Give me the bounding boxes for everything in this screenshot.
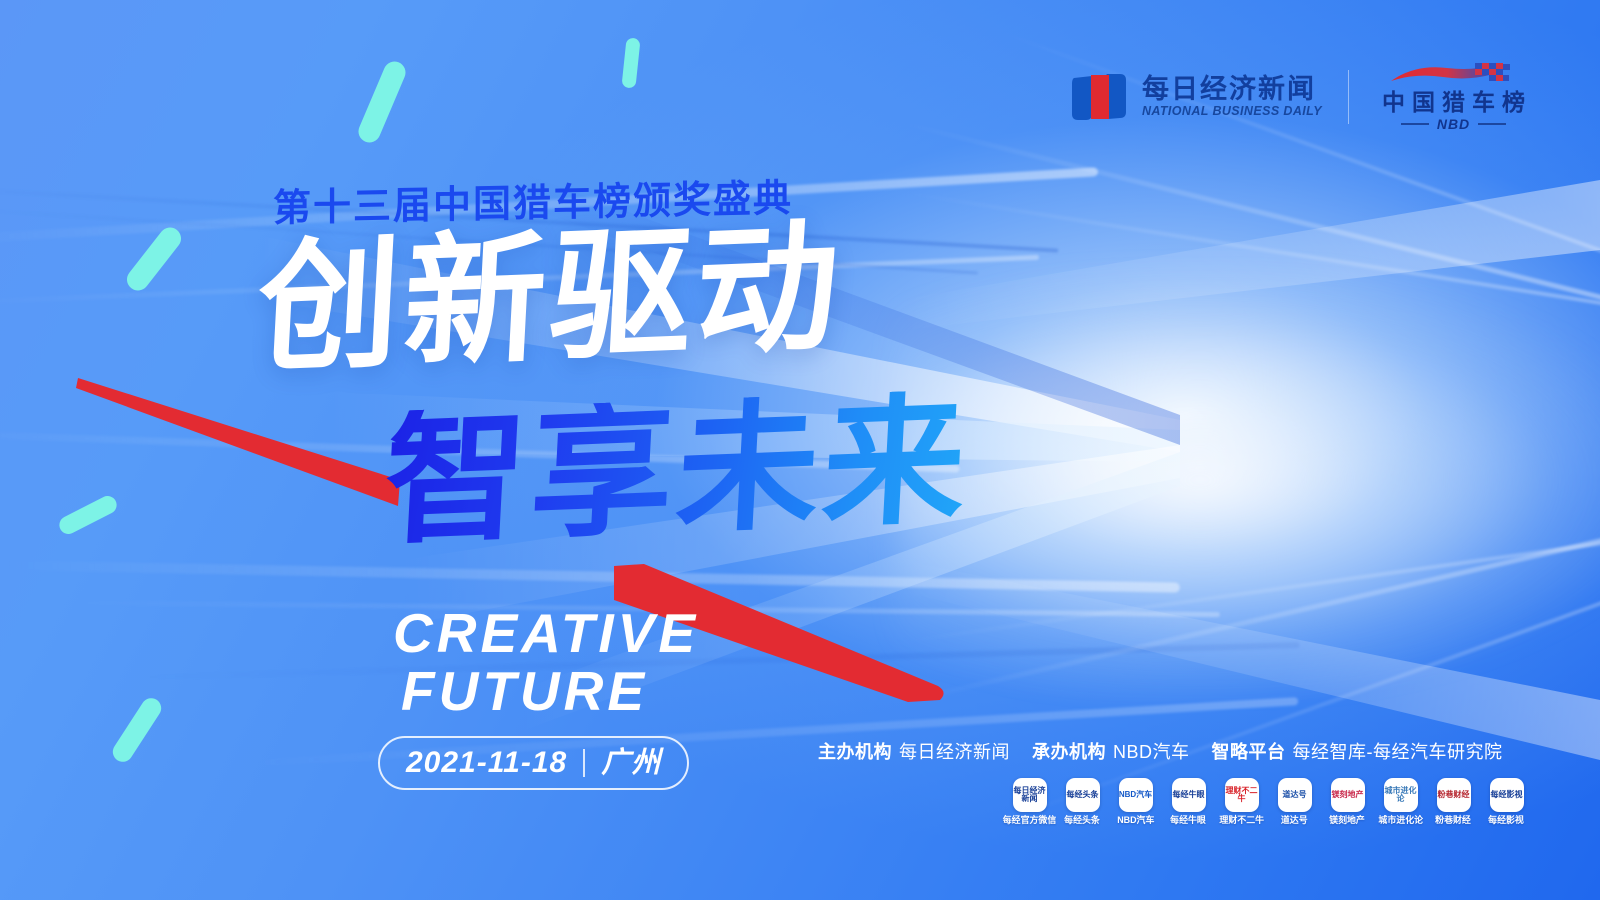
app-tile-glyph: 每经头条 (1067, 791, 1099, 799)
credit-item: 智略平台每经智库-每经汽车研究院 (1212, 738, 1503, 764)
app-tile-glyph: 每经影视 (1491, 791, 1523, 799)
credit-value: 每经智库-每经汽车研究院 (1293, 738, 1503, 764)
credit-item: 承办机构NBD汽车 (1032, 738, 1190, 764)
english-title-line2: FUTURE (393, 662, 699, 720)
light-streak (0, 560, 1180, 593)
nbd-wechat-icon[interactable]: 每日经济新闻 (1013, 778, 1047, 812)
liecheng-logo: 中国猎车榜 NBD (1375, 62, 1532, 131)
app-label: 每经官方微信 (1003, 816, 1057, 825)
app-label: 每经影视 (1489, 816, 1525, 825)
app-tile-glyph: 理财不二牛 (1225, 787, 1259, 803)
light-beam (899, 120, 1600, 309)
liecheng-logo-chinese: 中国猎车榜 (1375, 91, 1532, 114)
app-tile-glyph: 城市进化论 (1384, 787, 1418, 803)
nbd-logo-chinese: 每日经济新闻 (1142, 76, 1322, 103)
light-source-glow (896, 270, 1600, 690)
fenxiang-finance-icon[interactable]: 粉巷财经 (1437, 778, 1471, 812)
logo-divider (1348, 70, 1349, 124)
app-label: 道达号 (1281, 816, 1308, 825)
finance-bull-icon[interactable]: 理财不二牛 (1225, 778, 1259, 812)
liecheng-logo-abbrev: NBD (1437, 117, 1470, 131)
credit-key: 主办机构 (818, 738, 892, 764)
app-label: 每经牛眼 (1171, 816, 1207, 825)
english-title-line1: CREATIVE (393, 602, 699, 664)
app-label: NBD汽车 (1117, 816, 1154, 825)
event-date: 2021-11-18 (406, 748, 567, 778)
header-logos: 每日经济新闻 NATIONAL BUSINESS DAILY (1068, 62, 1532, 131)
app-entry[interactable]: 粉巷财经粉巷财经 (1432, 778, 1475, 826)
credit-item: 主办机构每日经济新闻 (818, 738, 1010, 764)
nbd-monogram-icon (1068, 66, 1130, 128)
racing-flag-swoosh-icon (1389, 62, 1519, 88)
rule-left (1401, 123, 1429, 125)
credit-key: 承办机构 (1032, 738, 1106, 764)
credit-value: NBD汽车 (1113, 738, 1190, 764)
event-poster: 每日经济新闻 NATIONAL BUSINESS DAILY (0, 0, 1600, 900)
deco-bar-mint (621, 37, 640, 88)
app-entry[interactable]: 道达号道达号 (1273, 778, 1316, 826)
deco-bar-mint (109, 694, 165, 765)
deco-bar-mint (355, 58, 409, 146)
daoda-avatar-icon[interactable]: 道达号 (1278, 778, 1312, 812)
app-tile-glyph: 镁刻地产 (1332, 791, 1364, 799)
rule-right (1478, 123, 1506, 125)
app-label: 镁刻地产 (1330, 816, 1366, 825)
credit-value: 每日经济新闻 (899, 738, 1010, 764)
app-tile-glyph: NBD汽车 (1119, 791, 1152, 799)
event-city: 广州 (601, 749, 661, 778)
nbd-logo: 每日经济新闻 NATIONAL BUSINESS DAILY (1068, 66, 1322, 128)
nbd-film-icon[interactable]: 每经影视 (1490, 778, 1524, 812)
real-estate-icon[interactable]: 镁刻地产 (1331, 778, 1365, 812)
app-label: 每经头条 (1065, 816, 1101, 825)
city-evolution-icon[interactable]: 城市进化论 (1384, 778, 1418, 812)
app-tile-glyph: 每日经济新闻 (1013, 787, 1047, 803)
nbd-toutiao-icon[interactable]: 每经头条 (1066, 778, 1100, 812)
app-label: 城市进化论 (1378, 816, 1423, 825)
light-beam (900, 190, 1600, 316)
date-location-badge: 2021-11-18 广州 (378, 736, 689, 790)
nbd-logo-text: 每日经济新闻 NATIONAL BUSINESS DAILY (1142, 76, 1322, 118)
nbd-logo-english: NATIONAL BUSINESS DAILY (1142, 105, 1322, 118)
app-entry[interactable]: 每经头条每经头条 (1061, 778, 1104, 826)
app-entry[interactable]: 镁刻地产镁刻地产 (1326, 778, 1369, 826)
main-title-line1: 创新驱动 (254, 217, 845, 382)
app-entry[interactable]: NBD汽车NBD汽车 (1114, 778, 1157, 826)
main-title-line2: 智享未来 (381, 389, 972, 554)
light-beam (900, 531, 1600, 644)
app-label: 粉巷财经 (1436, 816, 1472, 825)
nbd-bull-eye-icon[interactable]: 每经牛眼 (1172, 778, 1206, 812)
deco-ribbon-red-upper (76, 372, 406, 512)
liecheng-logo-abbrev-row: NBD (1401, 117, 1506, 131)
nbd-auto-icon[interactable]: NBD汽车 (1119, 778, 1153, 812)
app-label: 理财不二牛 (1219, 816, 1264, 825)
credit-key: 智略平台 (1212, 738, 1286, 764)
app-tile-glyph: 粉巷财经 (1438, 791, 1470, 799)
app-tile-glyph: 每经牛眼 (1173, 791, 1205, 799)
app-entry[interactable]: 每日经济新闻每经官方微信 (1008, 778, 1051, 826)
badge-separator (583, 749, 585, 777)
light-beam (899, 529, 1600, 705)
deco-bar-mint (123, 223, 186, 295)
app-entry[interactable]: 每经牛眼每经牛眼 (1167, 778, 1210, 826)
credits-row: 主办机构每日经济新闻承办机构NBD汽车智略平台每经智库-每经汽车研究院 (818, 738, 1503, 764)
app-entry[interactable]: 理财不二牛理财不二牛 (1220, 778, 1263, 826)
english-title: CREATIVE FUTURE (393, 604, 699, 721)
app-entry[interactable]: 每经影视每经影视 (1485, 778, 1528, 826)
app-entry[interactable]: 城市进化论城市进化论 (1379, 778, 1422, 826)
app-matrix-strip: 每日经济新闻每经官方微信每经头条每经头条NBD汽车NBD汽车每经牛眼每经牛眼理财… (1008, 778, 1528, 826)
app-tile-glyph: 道达号 (1283, 791, 1307, 799)
